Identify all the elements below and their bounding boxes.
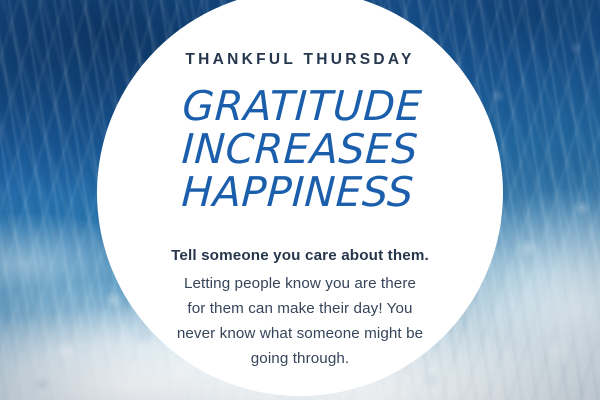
headline-line-1: GRATITUDE	[98, 85, 506, 128]
headline-line-3: HAPPINESS	[94, 171, 502, 214]
headline-line-2: INCREASES	[96, 128, 504, 171]
body-line-1: Letting people know you are there	[111, 271, 489, 296]
poster-content: THANKFUL THURSDAY GRATITUDE INCREASES HA…	[97, 0, 503, 396]
body-line-3: never know what someone might be	[111, 321, 489, 346]
lede-text: Tell someone you care about them.	[97, 248, 503, 263]
body-line-2: for them can make their day! You	[111, 296, 489, 321]
eyebrow-heading: THANKFUL THURSDAY	[97, 52, 503, 68]
body-line-4: going through.	[111, 346, 489, 371]
thankful-thursday-poster: THANKFUL THURSDAY GRATITUDE INCREASES HA…	[0, 0, 600, 400]
body-paragraph: Letting people know you are there for th…	[111, 271, 489, 371]
headline: GRATITUDE INCREASES HAPPINESS	[94, 85, 507, 214]
